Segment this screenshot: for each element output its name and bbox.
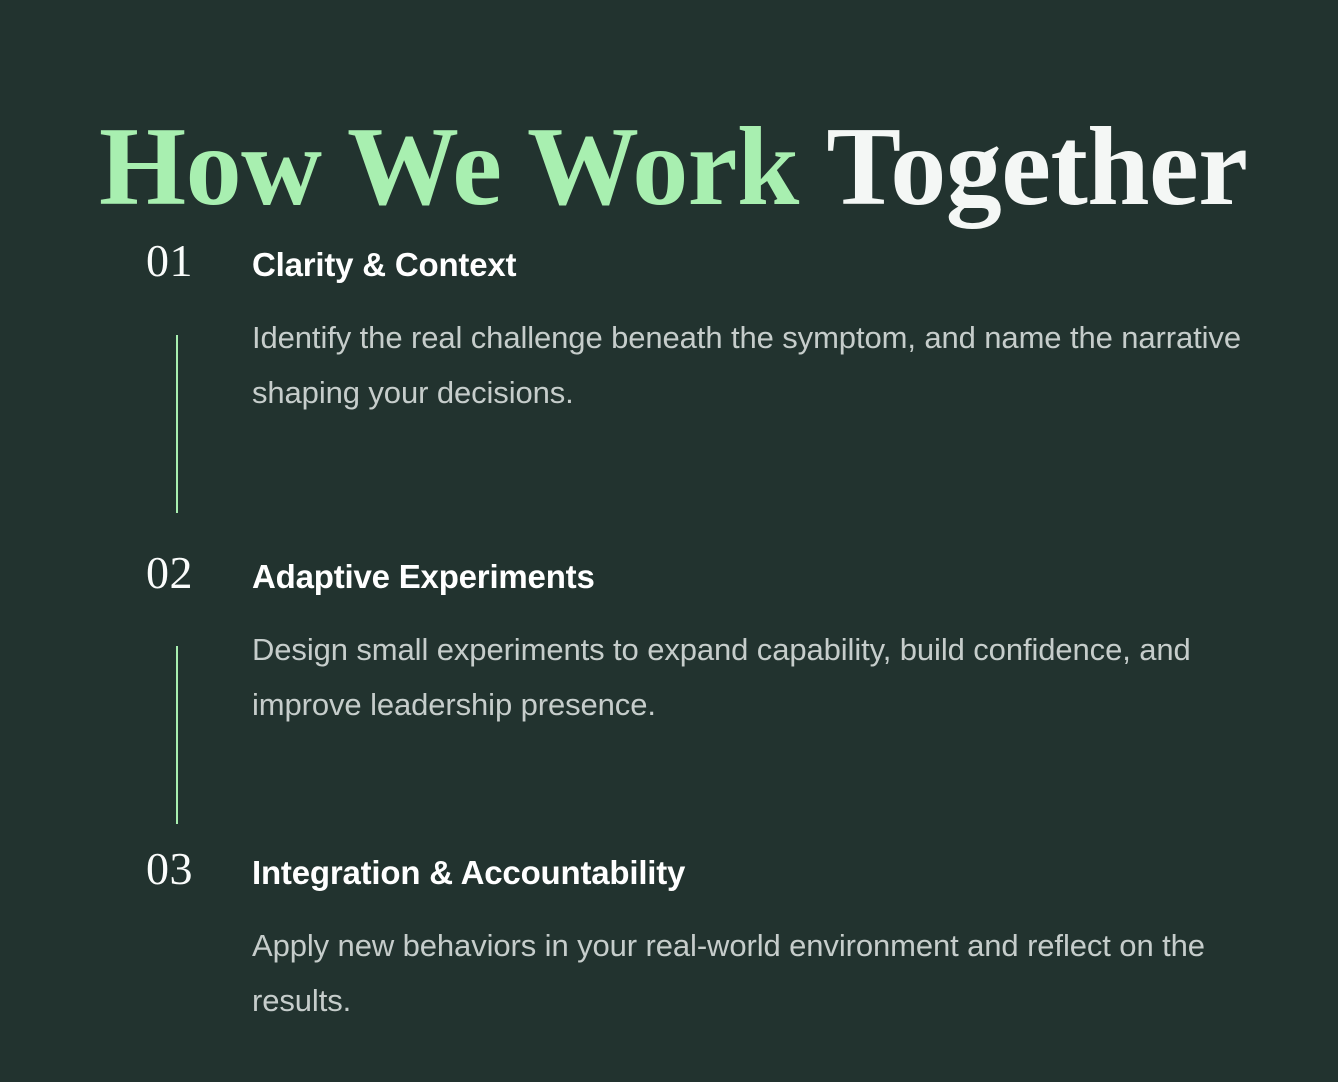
step-item-02: 02 Adaptive Experiments Design small exp… bbox=[0, 550, 1338, 846]
step-header-03: 03 Integration & Accountability bbox=[146, 846, 1338, 902]
page-title: How We Work Together bbox=[99, 105, 1299, 230]
step-connector-line-01 bbox=[176, 335, 178, 513]
step-description-01: Identify the real challenge beneath the … bbox=[252, 310, 1272, 420]
step-title-02: Adaptive Experiments bbox=[252, 560, 595, 593]
step-item-01: 01 Clarity & Context Identify the real c… bbox=[0, 238, 1338, 550]
step-number-02: 02 bbox=[146, 550, 252, 596]
step-number-01: 01 bbox=[146, 238, 252, 284]
step-header-01: 01 Clarity & Context bbox=[146, 238, 1338, 294]
page-title-plain-text: Together bbox=[826, 105, 1247, 229]
step-item-03: 03 Integration & Accountability Apply ne… bbox=[0, 846, 1338, 1056]
step-header-02: 02 Adaptive Experiments bbox=[146, 550, 1338, 606]
step-description-02: Design small experiments to expand capab… bbox=[252, 622, 1272, 732]
step-title-03: Integration & Accountability bbox=[252, 856, 685, 889]
step-number-03: 03 bbox=[146, 846, 252, 892]
step-connector-line-02 bbox=[176, 646, 178, 824]
page-title-plain bbox=[799, 105, 827, 229]
page-title-accent: How We Work bbox=[99, 105, 799, 229]
step-title-01: Clarity & Context bbox=[252, 248, 516, 281]
process-section: How We Work Together 01 Clarity & Contex… bbox=[0, 0, 1338, 1082]
steps-list: 01 Clarity & Context Identify the real c… bbox=[0, 238, 1338, 1056]
step-description-03: Apply new behaviors in your real-world e… bbox=[252, 918, 1272, 1028]
